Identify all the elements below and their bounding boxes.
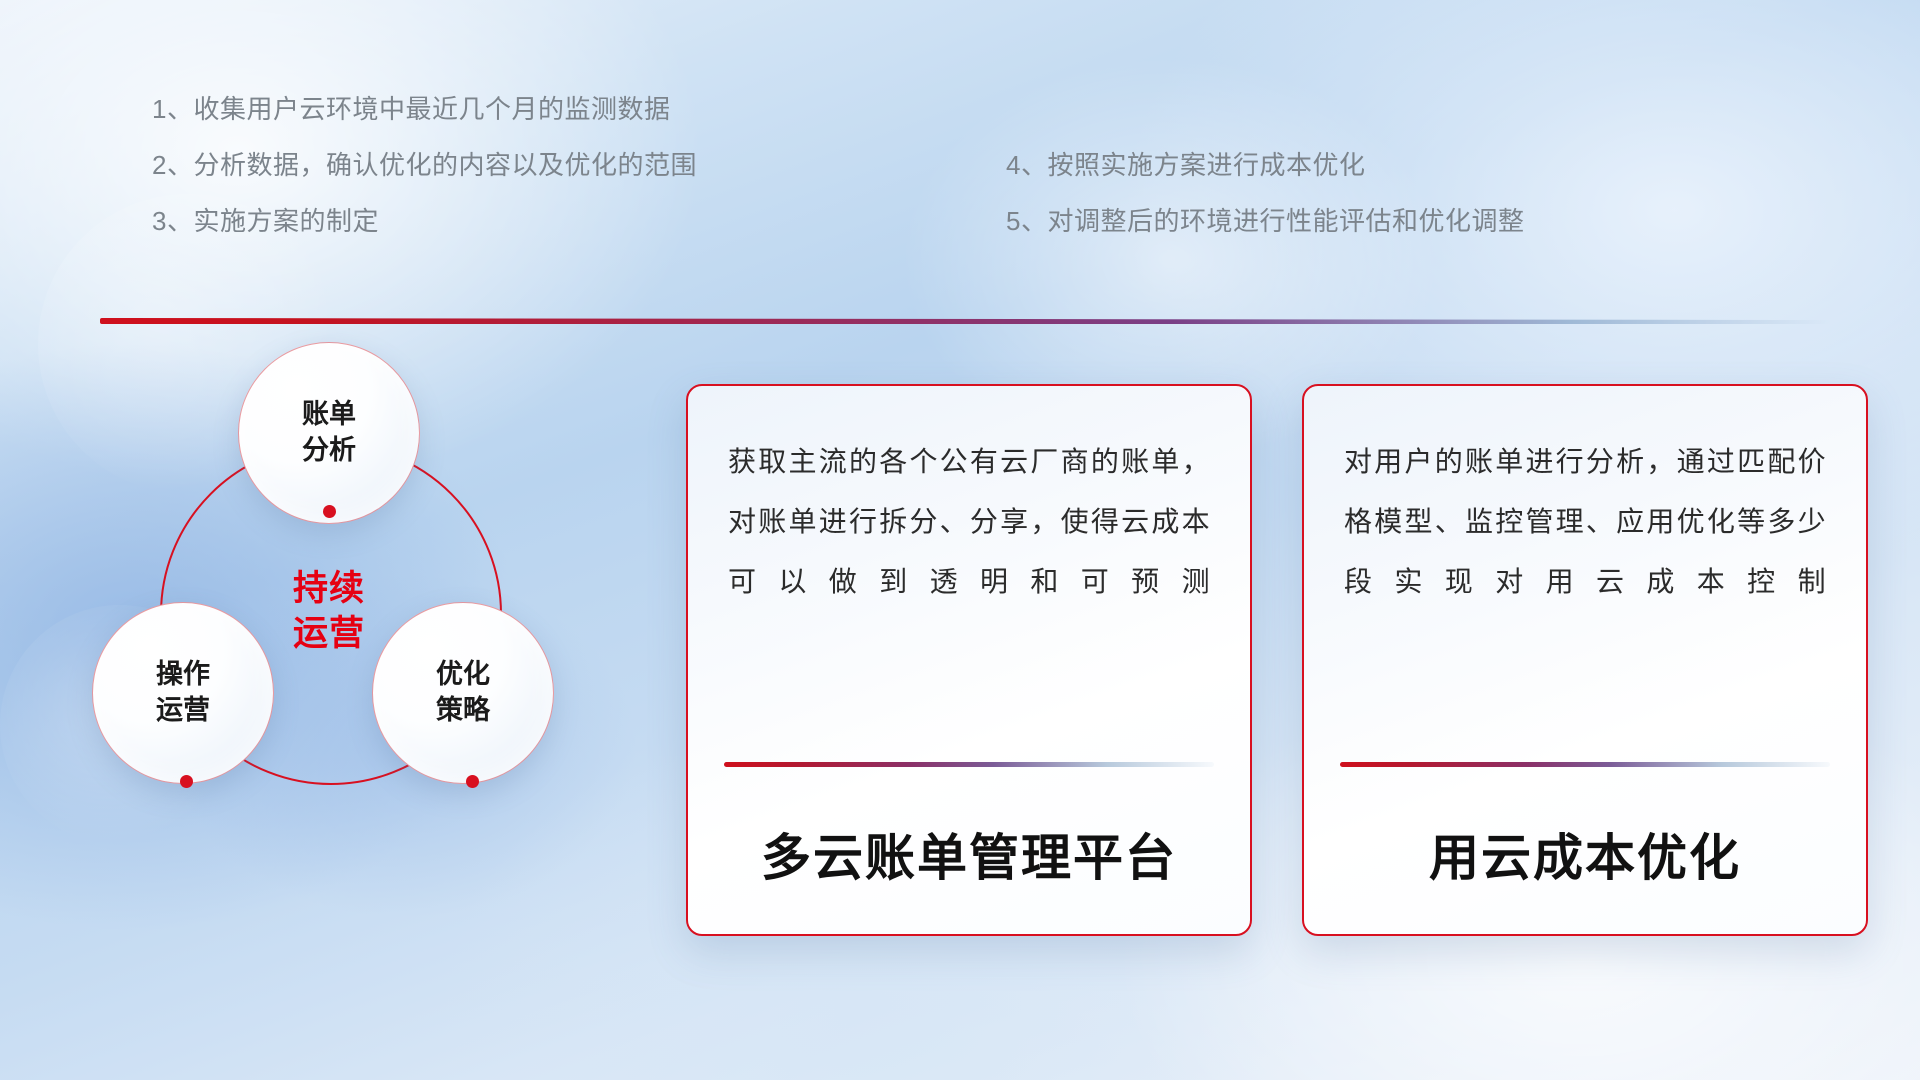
card-body-text: 获取主流的各个公有云厂商的账单，对账单进行拆分、分享，使得云成本可以做到透明和可… (728, 432, 1210, 612)
step-item-2: 2、分析数据，确认优化的内容以及优化的范围 (152, 152, 697, 178)
node-label-line-1: 操作 (156, 657, 210, 693)
node-label-line-2: 策略 (436, 693, 490, 729)
diagram-node-bill-analysis[interactable]: 账单 分析 (238, 342, 420, 524)
step-item-5: 5、对调整后的环境进行性能评估和优化调整 (1006, 208, 1524, 234)
node-label-line-1: 账单 (302, 397, 356, 433)
card-content: 对用户的账单进行分析，通过匹配价格模型、监控管理、应用优化等多少段实现对用云成本… (1304, 386, 1866, 612)
node-label-line-2: 分析 (302, 433, 356, 469)
card-title: 多云账单管理平台 (688, 818, 1250, 890)
node-label-line-1: 优化 (436, 657, 490, 693)
center-label-line-2: 运营 (293, 612, 365, 657)
node-label-line-2: 运营 (156, 693, 210, 729)
step-item-4: 4、按照实施方案进行成本优化 (1006, 152, 1524, 178)
card-title: 用云成本优化 (1304, 818, 1866, 890)
card-body-text: 对用户的账单进行分析，通过匹配价格模型、监控管理、应用优化等多少段实现对用云成本… (1344, 432, 1826, 612)
step-item-3: 3、实施方案的制定 (152, 208, 697, 234)
steps-right-column: 4、按照实施方案进行成本优化 5、对调整后的环境进行性能评估和优化调整 (1006, 152, 1524, 234)
card-content: 获取主流的各个公有云厂商的账单，对账单进行拆分、分享，使得云成本可以做到透明和可… (688, 386, 1250, 612)
feature-card-cloud-cost-optimization[interactable]: 对用户的账单进行分析，通过匹配价格模型、监控管理、应用优化等多少段实现对用云成本… (1302, 384, 1868, 936)
steps-left-column: 1、收集用户云环境中最近几个月的监测数据 2、分析数据，确认优化的内容以及优化的… (152, 96, 697, 234)
connector-dot-bottom-right (466, 775, 479, 788)
card-divider-rule (724, 762, 1214, 767)
feature-card-multicloud-billing[interactable]: 获取主流的各个公有云厂商的账单，对账单进行拆分、分享，使得云成本可以做到透明和可… (686, 384, 1252, 936)
connector-dot-bottom-left (180, 775, 193, 788)
diagram-node-optimization-strategy[interactable]: 优化 策略 (372, 602, 554, 784)
step-item-1: 1、收集用户云环境中最近几个月的监测数据 (152, 96, 697, 122)
center-label-line-1: 持续 (293, 567, 365, 612)
diagram-node-operations[interactable]: 操作 运营 (92, 602, 274, 784)
continuous-operation-diagram: 持续 运营 账单 分析 操作 运营 优化 策略 (100, 350, 640, 950)
connector-dot-top (323, 505, 336, 518)
card-divider-rule (1340, 762, 1830, 767)
